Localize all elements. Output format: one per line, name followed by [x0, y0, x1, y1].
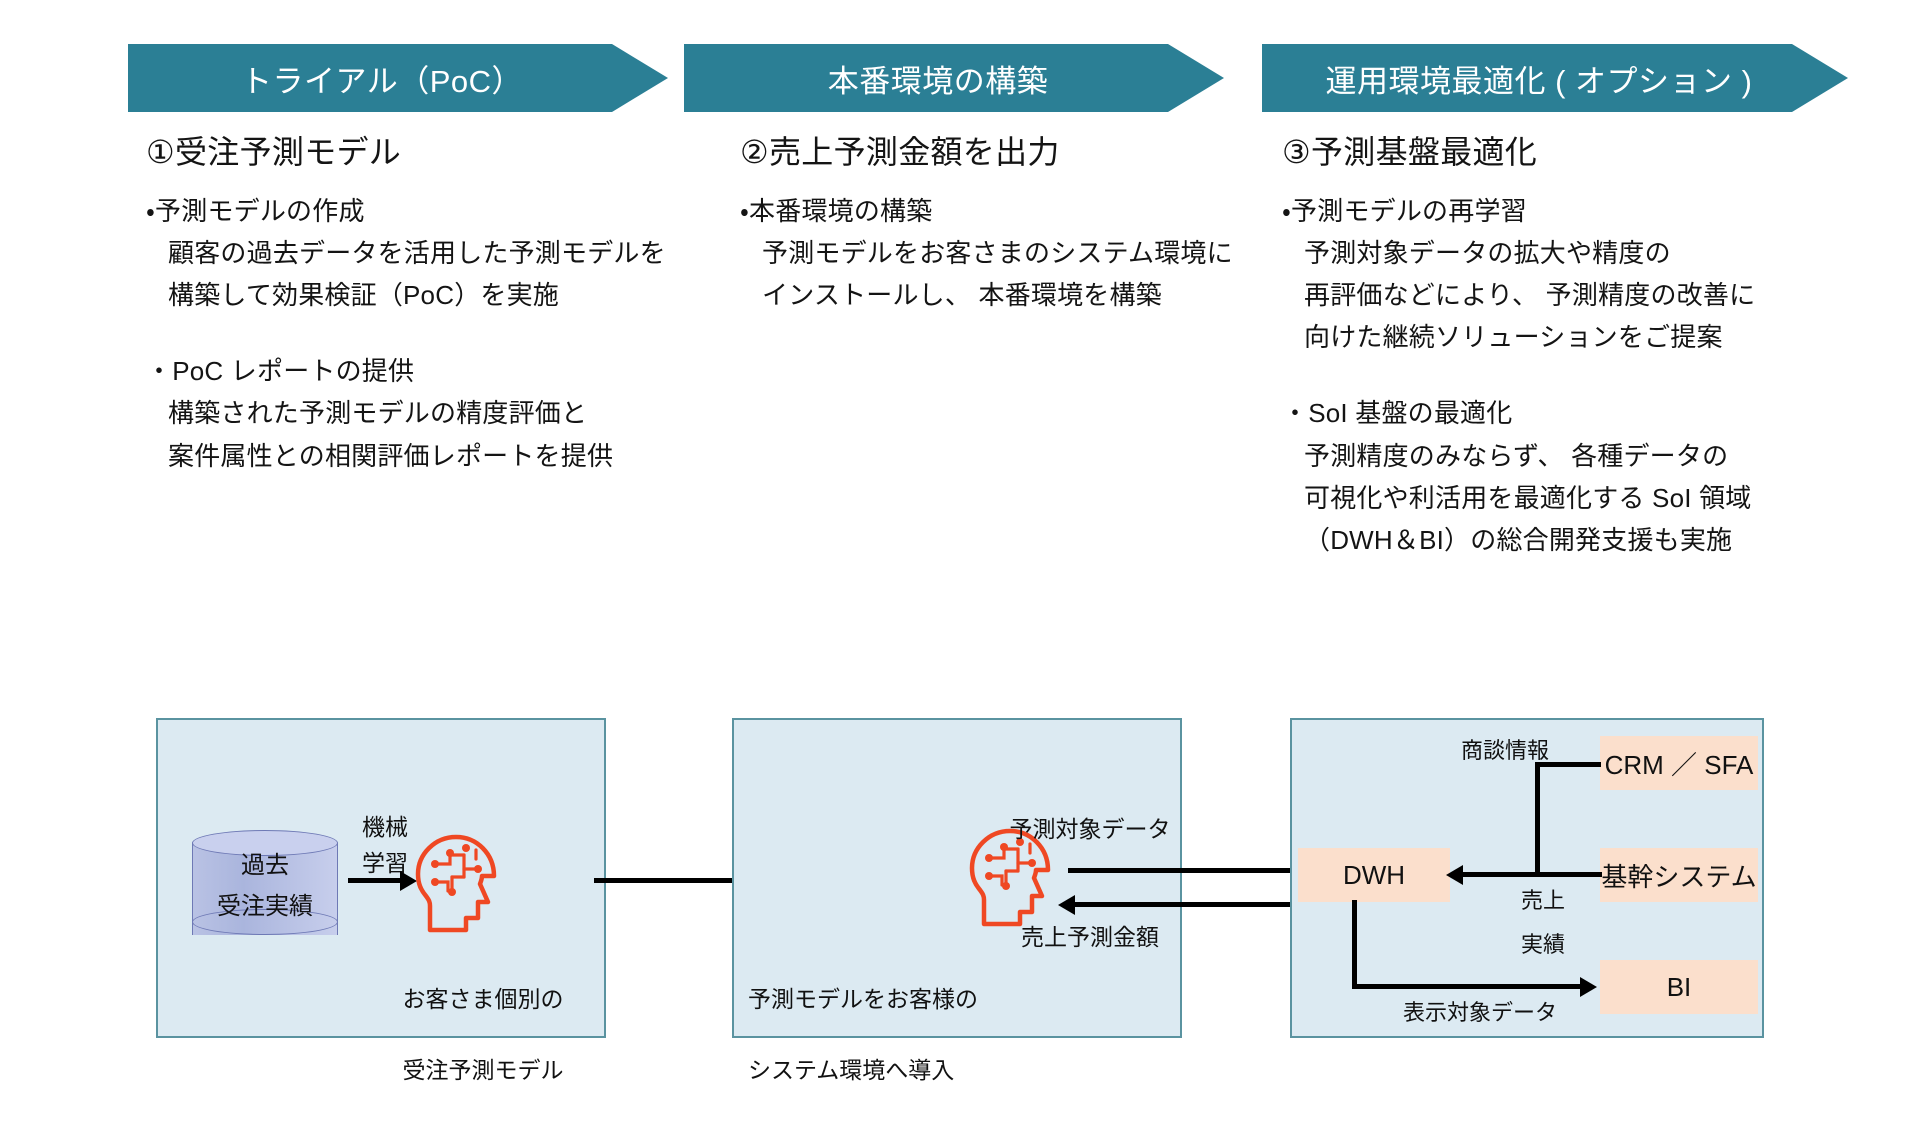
poc-model-caption-line1: お客さま個別の — [378, 982, 588, 1018]
line-crm-to-junction — [1535, 762, 1540, 876]
bullet-head: ・本番環境の構築 — [740, 190, 1300, 232]
box-bi-label: BI — [1667, 972, 1692, 1003]
deal-info-label: 商談情報 — [1440, 734, 1570, 767]
box-dwh: DWH — [1298, 848, 1450, 902]
phase-header-optimize-label: 運用環境最適化 ( オプション ) — [1326, 56, 1753, 101]
arrow-prediction-target-data — [1068, 868, 1300, 873]
bullet-line: 可視化や利活用を最適化する SoI 領域 — [1282, 477, 1882, 519]
column-production: ②売上予測金額を出力 ・本番環境の構築 予測モデルをお客さまのシステム環境に イ… — [740, 132, 1300, 350]
sales-forecast-amount-label: 売上予測金額 — [930, 920, 1250, 956]
column-poc-block-2: ・PoC レポートの提供 構築された予測モデルの精度評価と 案件属性との相関評価… — [146, 350, 706, 476]
bullet-head: ・SoI 基盤の最適化 — [1282, 392, 1882, 434]
column-optimize-block-2: ・SoI 基盤の最適化 予測精度のみならず、 各種データの 可視化や利活用を最適… — [1282, 392, 1882, 560]
arrow-core-system-to-dwh — [1462, 872, 1602, 877]
production-model-caption-line2: システム環境へ導入 — [748, 1053, 1068, 1089]
bullet-line: 案件属性との相関評価レポートを提供 — [146, 435, 706, 477]
box-core-system-label: 基幹システム — [1601, 857, 1756, 894]
cylinder-label: 過去 受注実績 — [192, 846, 338, 928]
bullet-line: 予測精度のみならず、 各種データの — [1282, 435, 1882, 477]
bullet-head: ・予測モデルの作成 — [146, 190, 706, 232]
bullet-line: 構築して効果検証（PoC）を実施 — [146, 274, 706, 316]
poc-model-caption: お客さま個別の 受注予測モデル — [378, 946, 588, 1124]
display-data-label: 表示対象データ — [1380, 996, 1580, 1029]
column-poc-block-1: ・予測モデルの作成 顧客の過去データを活用した予測モデルを 構築して効果検証（P… — [146, 190, 706, 316]
arrow-sales-forecast-amount — [1074, 902, 1300, 907]
column-production-block-1: ・本番環境の構築 予測モデルをお客さまのシステム環境に インストールし、 本番環… — [740, 190, 1300, 316]
phase-header-optimize: 運用環境最適化 ( オプション ) — [1262, 44, 1848, 112]
slide-canvas: トライアル（PoC） 本番環境の構築 運用環境最適化 ( オプション ) ①受注… — [0, 0, 1930, 1086]
poc-model-caption-line2: 受注予測モデル — [378, 1053, 588, 1089]
phase-header-poc: トライアル（PoC） — [128, 44, 668, 112]
bullet-line: 顧客の過去データを活用した予測モデルを — [146, 232, 706, 274]
arrow-dwh-to-bi — [1352, 984, 1584, 989]
column-optimize: ③予測基盤最適化 ・予測モデルの再学習 予測対象データの拡大や精度の 再評価など… — [1282, 132, 1882, 595]
database-cylinder-past-orders: 過去 受注実績 — [192, 830, 338, 948]
box-crm-sfa-label: CRM ／ SFA — [1605, 745, 1754, 782]
production-model-caption: 予測モデルをお客様の システム環境へ導入 — [748, 946, 1068, 1124]
bullet-line: 向けた継続ソリューションをご提案 — [1282, 316, 1882, 358]
box-dwh-label: DWH — [1343, 860, 1405, 891]
bullet-head: ・PoC レポートの提供 — [146, 350, 706, 392]
line-dwh-down — [1352, 900, 1357, 988]
production-model-caption-line1: 予測モデルをお客様の — [748, 982, 1068, 1018]
bullet-line: インストールし、 本番環境を構築 — [740, 274, 1300, 316]
sales-record-label-line1: 売上 — [1488, 884, 1598, 917]
phase-header-production-label: 本番環境の構築 — [828, 56, 1049, 101]
column-optimize-title: ③予測基盤最適化 — [1282, 132, 1882, 172]
arrow-dwh-to-bi-head-icon — [1580, 977, 1597, 997]
box-crm-sfa: CRM ／ SFA — [1600, 736, 1758, 790]
bullet-line: 予測モデルをお客さまのシステム環境に — [740, 232, 1300, 274]
column-production-title: ②売上予測金額を出力 — [740, 132, 1300, 172]
arrow-core-system-to-dwh-head-icon — [1446, 865, 1463, 885]
ai-head-icon — [408, 824, 506, 941]
prediction-target-data-label: 予測対象データ — [930, 812, 1250, 848]
column-poc-title: ①受注予測モデル — [146, 132, 706, 172]
bullet-head: ・予測モデルの再学習 — [1282, 190, 1882, 232]
column-poc: ①受注予測モデル ・予測モデルの作成 顧客の過去データを活用した予測モデルを 構… — [146, 132, 706, 511]
bullet-line: 構築された予測モデルの精度評価と — [146, 392, 706, 434]
phase-header-production: 本番環境の構築 — [684, 44, 1224, 112]
bullet-line: 再評価などにより、 予測精度の改善に — [1282, 274, 1882, 316]
arrow-sales-forecast-amount-head-icon — [1058, 895, 1075, 915]
arrow-training — [348, 878, 406, 883]
cylinder-label-line1: 過去 — [192, 846, 338, 887]
sales-record-label-line2: 実績 — [1488, 928, 1598, 961]
cylinder-label-line2: 受注実績 — [192, 887, 338, 928]
bullet-line: 予測対象データの拡大や精度の — [1282, 232, 1882, 274]
phase-header-poc-label: トライアル（PoC） — [241, 56, 523, 101]
box-bi: BI — [1600, 960, 1758, 1014]
column-optimize-block-1: ・予測モデルの再学習 予測対象データの拡大や精度の 再評価などにより、 予測精度… — [1282, 190, 1882, 358]
box-core-system: 基幹システム — [1600, 848, 1758, 902]
bullet-line: （DWH＆BI）の総合開発支援も実施 — [1282, 519, 1882, 561]
